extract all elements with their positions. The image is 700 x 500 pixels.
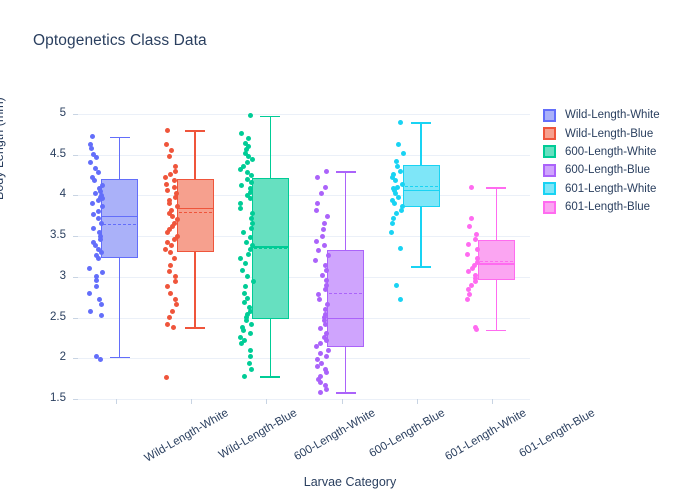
whisker-upper — [270, 116, 272, 178]
data-point — [90, 201, 95, 206]
data-point — [465, 297, 470, 302]
gridline — [78, 114, 530, 115]
median-line — [252, 246, 289, 248]
data-point — [243, 261, 248, 266]
data-point — [172, 178, 177, 183]
data-point — [400, 182, 405, 187]
data-point — [248, 113, 253, 118]
data-point — [246, 252, 251, 257]
whisker-lower — [194, 252, 196, 327]
data-point — [168, 291, 173, 296]
data-point — [96, 170, 101, 175]
whisker-lower — [496, 280, 498, 330]
data-point — [394, 159, 399, 164]
data-point — [244, 318, 249, 323]
legend-item-2[interactable]: Wild-Length-Blue — [543, 124, 693, 142]
whisker-upper — [119, 137, 121, 179]
y-tick-mark — [73, 277, 78, 278]
data-point — [99, 302, 104, 307]
data-point — [315, 201, 320, 206]
whisker-upper — [345, 171, 347, 250]
y-tick-label: 5 — [60, 107, 66, 119]
data-point — [165, 230, 170, 235]
data-point — [467, 224, 472, 229]
data-point — [238, 167, 243, 172]
data-point — [169, 243, 174, 248]
x-tick-label-6: 601-Length-Blue — [518, 407, 598, 460]
gridline — [78, 236, 530, 237]
data-point — [324, 338, 329, 343]
data-point — [326, 348, 331, 353]
y-axis-title: Body Length (mm) — [0, 97, 6, 200]
whisker-cap-upper — [185, 130, 205, 132]
data-point — [316, 248, 321, 253]
data-point — [172, 256, 177, 261]
legend-swatch-icon — [543, 145, 556, 158]
data-point — [315, 175, 320, 180]
data-point — [164, 375, 169, 380]
data-point — [167, 154, 172, 159]
data-point — [322, 243, 327, 248]
data-point — [325, 214, 330, 219]
data-point — [324, 370, 329, 375]
data-point — [239, 183, 244, 188]
chart-container: Optogenetics Class Data Body Length (mm)… — [0, 0, 700, 500]
data-point — [250, 221, 255, 226]
median-line — [177, 208, 214, 210]
chart-title: Optogenetics Class Data — [33, 32, 207, 50]
data-point — [98, 357, 103, 362]
data-point — [324, 387, 329, 392]
data-point — [87, 266, 92, 271]
data-point — [399, 208, 404, 213]
y-tick-mark — [73, 236, 78, 237]
whisker-cap-upper — [411, 122, 431, 124]
gridline — [78, 277, 530, 278]
data-point — [88, 309, 93, 314]
data-point — [249, 367, 254, 372]
data-point — [466, 242, 471, 247]
data-point — [172, 185, 177, 190]
y-tick-label: 3 — [60, 270, 66, 282]
data-point — [249, 322, 254, 327]
whisker-upper — [496, 187, 498, 240]
whisker-cap-lower — [411, 266, 431, 268]
data-point — [243, 284, 248, 289]
data-point — [320, 234, 325, 239]
data-point — [173, 164, 178, 169]
y-tick-label: 4 — [60, 188, 66, 200]
whisker-upper — [420, 122, 422, 165]
box[interactable] — [327, 250, 364, 347]
data-point — [314, 344, 319, 349]
data-point — [318, 390, 323, 395]
data-point — [392, 201, 397, 206]
data-point — [398, 297, 403, 302]
y-tick-label: 2.5 — [50, 311, 66, 323]
data-point — [393, 178, 398, 183]
data-point — [168, 250, 173, 255]
data-point — [165, 128, 170, 133]
data-point — [94, 284, 99, 289]
x-axis-title: Larvae Category — [0, 475, 700, 489]
data-point — [398, 246, 403, 251]
x-tick-label-1: Wild-Length-White — [142, 407, 230, 465]
whisker-upper — [194, 130, 196, 179]
legend-swatch-icon — [543, 201, 556, 214]
legend-item-5[interactable]: 601-Length-White — [543, 180, 693, 198]
data-point — [165, 284, 170, 289]
whisker-cap-lower — [185, 327, 205, 329]
data-point — [171, 325, 176, 330]
gridline — [78, 155, 530, 156]
data-point — [241, 328, 246, 333]
data-point — [87, 291, 92, 296]
data-point — [174, 302, 179, 307]
y-tick-mark — [73, 155, 78, 156]
data-point — [315, 364, 320, 369]
data-point — [242, 300, 247, 305]
data-point — [320, 273, 325, 278]
data-point — [167, 201, 172, 206]
data-point — [245, 274, 250, 279]
legend-item-3[interactable]: 600-Length-White — [543, 143, 693, 161]
data-point — [324, 169, 329, 174]
data-point — [324, 278, 329, 283]
data-point — [469, 185, 474, 190]
data-point — [398, 169, 403, 174]
data-point — [398, 120, 403, 125]
x-tick-mark — [116, 399, 117, 404]
data-point — [170, 309, 175, 314]
whisker-lower — [345, 347, 347, 393]
legend-item-label: 600-Length-Blue — [565, 164, 650, 176]
data-point — [394, 211, 399, 216]
data-point — [314, 208, 319, 213]
data-point — [473, 237, 478, 242]
x-tick-mark — [191, 399, 192, 404]
data-point — [323, 185, 328, 190]
data-point — [394, 283, 399, 288]
data-point — [173, 279, 178, 284]
whisker-lower — [119, 258, 121, 357]
gridline — [78, 195, 530, 196]
x-tick-mark — [342, 399, 343, 404]
data-point — [99, 221, 104, 226]
legend-swatch-icon — [543, 164, 556, 177]
data-point — [242, 374, 247, 379]
median-line — [101, 216, 138, 218]
data-point — [248, 331, 253, 336]
legend-item-label: 601-Length-Blue — [565, 201, 650, 213]
legend-item-1[interactable]: Wild-Length-White — [543, 106, 693, 124]
data-point — [321, 227, 326, 232]
legend-item-label: 600-Length-White — [565, 146, 656, 158]
y-tick-label: 2 — [60, 351, 66, 363]
data-point — [90, 134, 95, 139]
data-point — [317, 297, 322, 302]
box[interactable] — [177, 179, 214, 252]
data-point — [474, 327, 479, 332]
data-point — [239, 131, 244, 136]
median-line — [403, 190, 440, 192]
data-point — [395, 164, 400, 169]
whisker-cap-upper — [486, 187, 506, 189]
data-point — [396, 142, 401, 147]
data-point — [250, 157, 255, 162]
data-point — [313, 258, 318, 263]
x-tick-label-3: 600-Length-White — [293, 407, 378, 463]
data-point — [163, 175, 168, 180]
data-point — [391, 216, 396, 221]
data-point — [318, 351, 323, 356]
x-tick-mark — [266, 399, 267, 404]
legend-item-label: 601-Length-White — [565, 183, 656, 195]
y-tick-label: 4.5 — [50, 148, 66, 160]
whisker-cap-lower — [486, 330, 506, 332]
y-tick-mark — [73, 399, 78, 400]
data-point — [164, 142, 169, 147]
data-point — [251, 279, 256, 284]
data-point — [322, 221, 327, 226]
mean-line — [329, 293, 362, 294]
whisker-cap-lower — [336, 392, 356, 394]
data-point — [389, 230, 394, 235]
data-point — [241, 230, 246, 235]
legend: Wild-Length-WhiteWild-Length-Blue600-Len… — [543, 106, 693, 216]
data-point — [390, 221, 395, 226]
whisker-lower — [420, 207, 422, 266]
data-point — [92, 178, 97, 183]
data-point — [165, 322, 170, 327]
box[interactable] — [101, 179, 138, 258]
data-point — [242, 291, 247, 296]
data-point — [465, 252, 470, 257]
data-point — [172, 237, 177, 242]
data-point — [96, 256, 101, 261]
data-point — [91, 226, 96, 231]
mean-line — [254, 248, 287, 249]
data-point — [324, 268, 329, 273]
data-point — [89, 146, 94, 151]
data-point — [401, 151, 406, 156]
data-point — [396, 195, 401, 200]
y-tick-mark — [73, 358, 78, 359]
y-tick-mark — [73, 318, 78, 319]
legend-item-6[interactable]: 601-Length-Blue — [543, 198, 693, 216]
data-point — [248, 348, 253, 353]
gridline — [78, 358, 530, 359]
data-point — [165, 188, 170, 193]
data-point — [248, 247, 253, 252]
data-point — [98, 237, 103, 242]
data-point — [88, 160, 93, 165]
legend-item-label: Wild-Length-Blue — [565, 128, 653, 140]
legend-swatch-icon — [543, 182, 556, 195]
data-point — [318, 326, 323, 331]
x-tick-label-4: 600-Length-Blue — [367, 407, 447, 460]
mean-line — [103, 224, 136, 225]
data-point — [249, 226, 254, 231]
y-tick-label: 1.5 — [50, 392, 66, 404]
whisker-cap-upper — [110, 137, 130, 139]
mean-line — [405, 186, 438, 187]
y-tick-label: 3.5 — [50, 229, 66, 241]
mean-line — [179, 212, 212, 213]
data-point — [244, 240, 249, 245]
median-line — [478, 263, 515, 265]
data-point — [246, 136, 251, 141]
y-tick-mark — [73, 195, 78, 196]
legend-item-4[interactable]: 600-Length-Blue — [543, 161, 693, 179]
data-point — [240, 268, 245, 273]
data-point — [323, 322, 328, 327]
x-tick-label-5: 601-Length-White — [443, 407, 528, 463]
gridline — [78, 399, 530, 400]
whisker-cap-lower — [260, 376, 280, 378]
data-point — [94, 278, 99, 283]
data-point — [164, 182, 169, 187]
data-point — [167, 315, 172, 320]
data-point — [100, 270, 105, 275]
y-tick-mark — [73, 114, 78, 115]
data-point — [96, 198, 101, 203]
legend-swatch-icon — [543, 127, 556, 140]
data-point — [168, 263, 173, 268]
data-point — [169, 148, 174, 153]
data-point — [469, 216, 474, 221]
data-point — [99, 250, 104, 255]
whisker-cap-lower — [110, 357, 130, 359]
data-point — [167, 269, 172, 274]
data-point — [238, 206, 243, 211]
data-point — [466, 269, 471, 274]
gridline — [78, 318, 530, 319]
x-tick-mark — [492, 399, 493, 404]
legend-swatch-icon — [543, 109, 556, 122]
whisker-cap-upper — [260, 116, 280, 118]
data-point — [238, 256, 243, 261]
whisker-cap-upper — [336, 171, 356, 173]
x-tick-mark — [417, 399, 418, 404]
data-point — [314, 239, 319, 244]
median-line — [327, 318, 364, 320]
data-point — [239, 341, 244, 346]
plot-area: 54.543.532.521.5Wild-Length-WhiteWild-Le… — [78, 114, 530, 399]
data-point — [249, 180, 254, 185]
data-point — [96, 216, 101, 221]
legend-item-label: Wild-Length-White — [565, 109, 660, 121]
data-point — [168, 172, 173, 177]
data-point — [173, 195, 178, 200]
data-point — [94, 155, 99, 160]
data-point — [247, 361, 252, 366]
whisker-lower — [270, 319, 272, 376]
mean-line — [480, 261, 513, 262]
data-point — [173, 169, 178, 174]
